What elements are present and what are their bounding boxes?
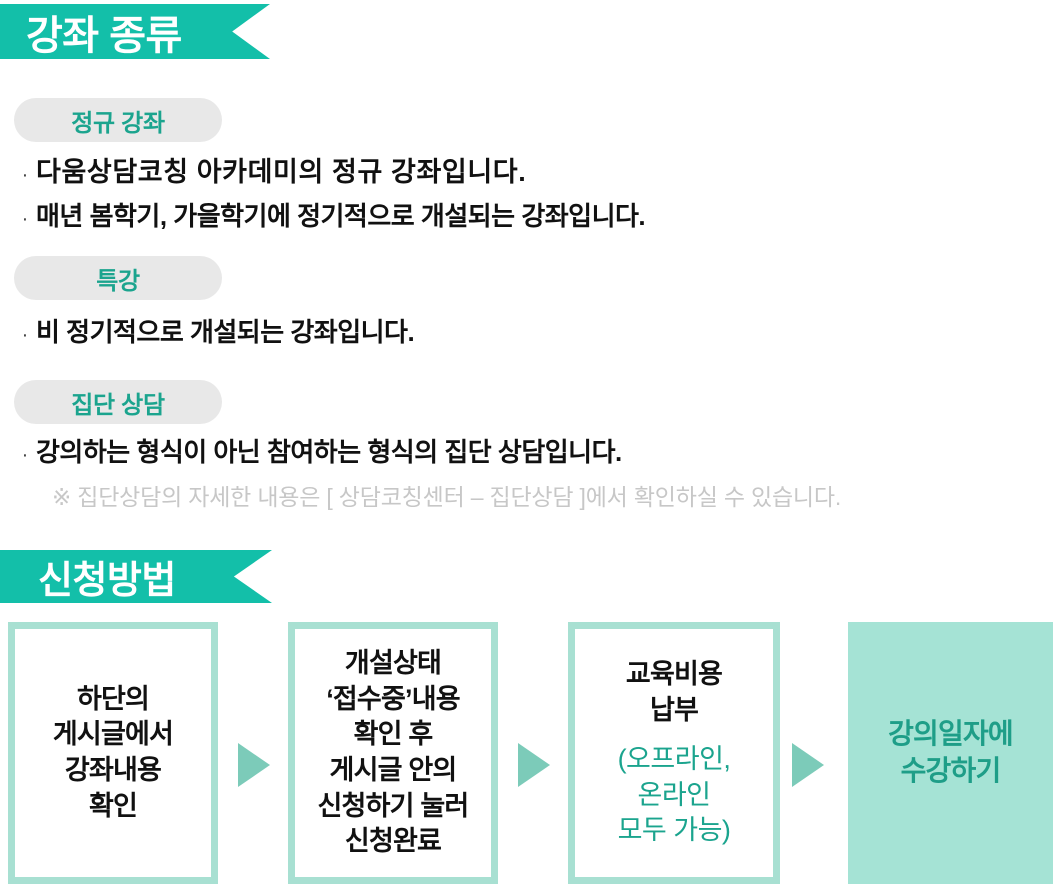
list-item-label: 다움상담코칭 아카데미의 정규 강좌입니다. (36, 150, 526, 189)
list-item-label: 비 정기적으로 개설되는 강좌입니다. (36, 312, 414, 349)
flow-step-3-accent-2: 온라인 (637, 778, 710, 814)
banner-apply-method: 신청방법 (0, 550, 272, 603)
triangle-right-icon (792, 743, 824, 787)
flow-step-2-line-2: ‘접수중’내용 (326, 682, 460, 718)
triangle-right-icon (518, 743, 550, 787)
pill-special-lecture: 특강 (14, 256, 222, 300)
flow-step-2-line-4: 게시글 안의 (330, 753, 457, 789)
banner-apply-method-label: 신청방법 (0, 549, 176, 604)
infographic-page: 강좌 종류 정규 강좌 · 다움상담코칭 아카데미의 정규 강좌입니다. · 매… (0, 0, 1060, 888)
list-item: · 매년 봄학기, 가을학기에 정기적으로 개설되는 강좌입니다. (14, 196, 645, 233)
flow-step-2-line-1: 개설상태 (345, 646, 441, 682)
flow-step-2-line-3: 확인 후 (354, 717, 433, 753)
flow-step-3-accent-1: (오프라인, (618, 742, 731, 778)
banner-course-types-label: 강좌 종류 (0, 3, 182, 61)
apply-method-flowchart: 하단의 게시글에서 강좌내용 확인 개설상태 ‘접수중’내용 확인 후 게시글 … (0, 622, 1060, 884)
list-item-label: 매년 봄학기, 가을학기에 정기적으로 개설되는 강좌입니다. (36, 196, 645, 233)
flow-step-1: 하단의 게시글에서 강좌내용 확인 (8, 622, 218, 884)
flow-step-1-line-4: 확인 (89, 789, 137, 825)
flow-step-2-line-5: 신청하기 눌러 (318, 789, 469, 825)
bullet-dot-icon: · (14, 165, 36, 185)
flow-step-2: 개설상태 ‘접수중’내용 확인 후 게시글 안의 신청하기 눌러 신청완료 (288, 622, 498, 884)
flow-step-1-line-1: 하단의 (77, 682, 149, 718)
flow-step-4: 강의일자에 수강하기 (848, 622, 1053, 884)
list-item-label: 강의하는 형식이 아닌 참여하는 형식의 집단 상담입니다. (36, 432, 622, 469)
flow-step-4-line-2: 수강하기 (901, 753, 1001, 790)
bullet-dot-icon: · (14, 209, 36, 229)
bullet-dot-icon: · (14, 325, 36, 345)
list-item: · 비 정기적으로 개설되는 강좌입니다. (14, 312, 414, 349)
flow-step-4-line-1: 강의일자에 (888, 716, 1013, 753)
banner-course-types: 강좌 종류 (0, 4, 270, 59)
flow-step-3-line-2: 납부 (650, 693, 698, 729)
pill-regular-course: 정규 강좌 (14, 98, 222, 142)
bullet-dot-icon: · (14, 445, 36, 465)
flow-step-3: 교육비용 납부 (오프라인, 온라인 모두 가능) (568, 622, 780, 884)
list-item: · 다움상담코칭 아카데미의 정규 강좌입니다. (14, 150, 526, 189)
group-counseling-note: ※ 집단상담의 자세한 내용은 [ 상담코칭센터 – 집단상담 ]에서 확인하실… (52, 478, 841, 512)
flow-step-1-line-3: 강좌내용 (65, 753, 161, 789)
triangle-right-icon (238, 743, 270, 787)
list-item: · 강의하는 형식이 아닌 참여하는 형식의 집단 상담입니다. (14, 432, 622, 469)
flow-step-2-line-6: 신청완료 (345, 824, 441, 860)
flow-step-3-accent-3: 모두 가능) (618, 813, 731, 849)
pill-group-counseling: 집단 상담 (14, 380, 222, 424)
flow-step-1-line-2: 게시글에서 (53, 717, 173, 753)
flow-step-3-line-1: 교육비용 (626, 657, 722, 693)
